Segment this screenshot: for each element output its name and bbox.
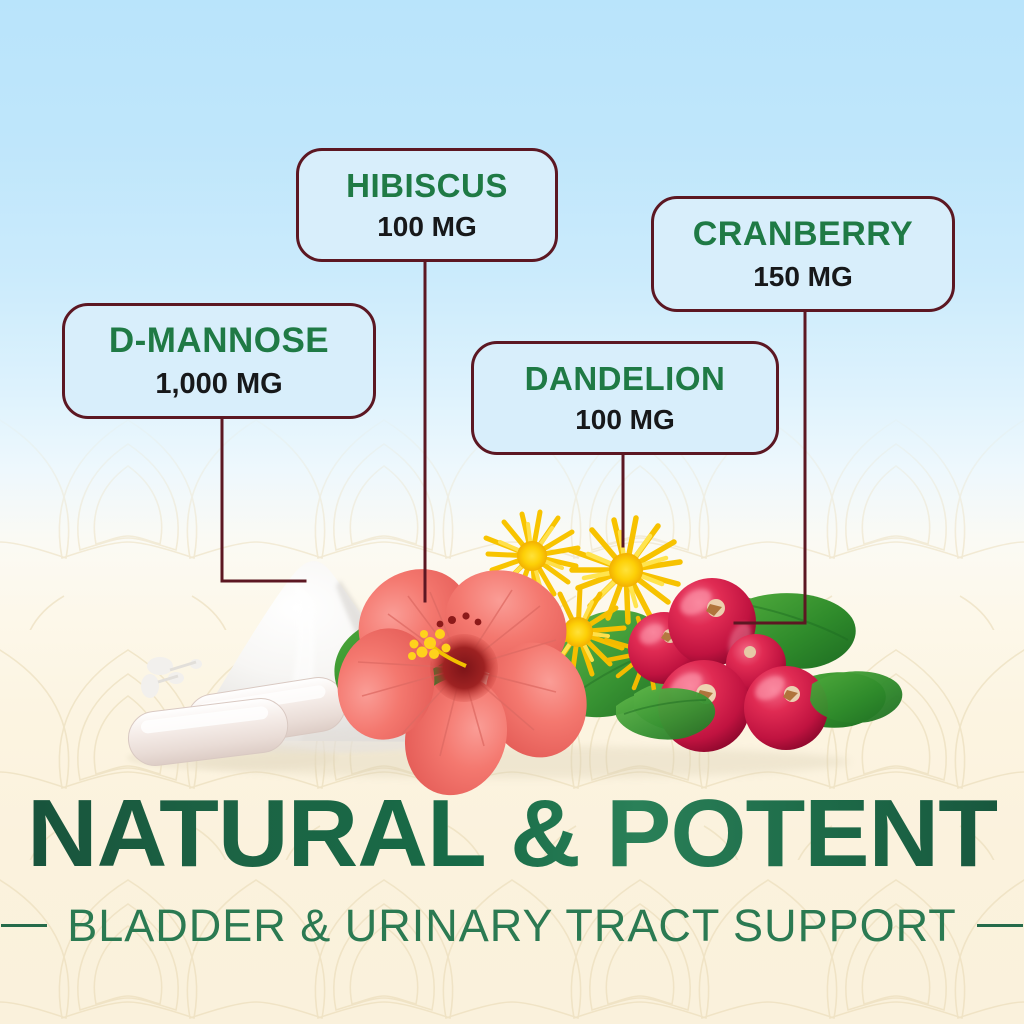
callout-hibiscus[interactable]: HIBISCUS 100 MG (296, 148, 558, 262)
headline: NATURAL & POTENT (0, 786, 1024, 882)
callout-d-mannose[interactable]: D-MANNOSE 1,000 MG (62, 303, 376, 419)
callout-d-mannose-name: D-MANNOSE (109, 323, 329, 358)
callout-d-mannose-dose: 1,000 MG (155, 370, 282, 399)
headline-container: NATURAL & POTENT (0, 786, 1024, 882)
left-dash-decoration (1, 924, 47, 927)
subheadline-container: BLADDER & URINARY TRACT SUPPORT (0, 903, 1024, 948)
infographic-canvas: D-MANNOSE 1,000 MG HIBISCUS 100 MG CRANB… (0, 0, 1024, 1024)
callout-dandelion-name: DANDELION (525, 362, 726, 395)
callout-hibiscus-dose: 100 MG (377, 213, 477, 241)
right-dash-decoration (977, 924, 1023, 927)
callout-dandelion[interactable]: DANDELION 100 MG (471, 341, 779, 455)
callout-cranberry-name: CRANBERRY (693, 217, 913, 251)
callout-cranberry-dose: 150 MG (753, 263, 853, 291)
callout-hibiscus-name: HIBISCUS (346, 169, 508, 202)
connector-d-mannose (222, 419, 305, 581)
callout-dandelion-dose: 100 MG (575, 406, 675, 434)
subheadline: BLADDER & URINARY TRACT SUPPORT (67, 903, 957, 948)
callout-cranberry[interactable]: CRANBERRY 150 MG (651, 196, 955, 312)
